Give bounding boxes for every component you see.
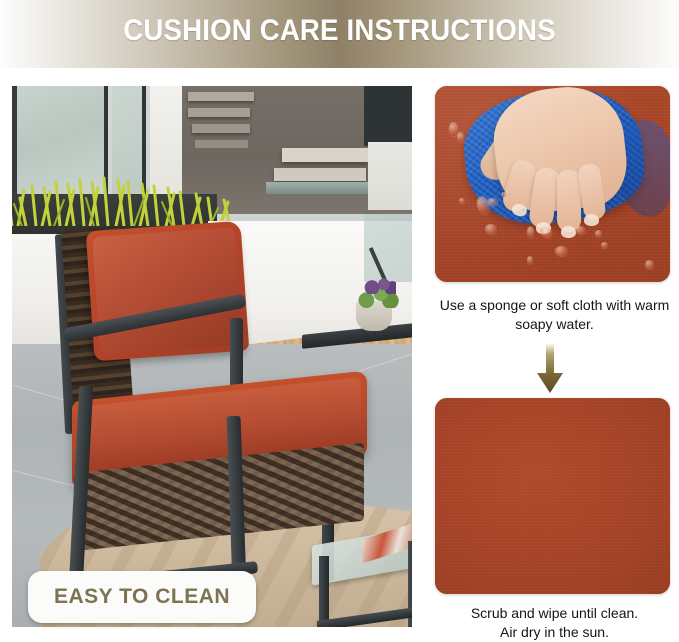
- step-two-caption-line2: Air dry in the sun.: [430, 623, 679, 642]
- easy-to-clean-label: EASY TO CLEAN: [54, 585, 230, 609]
- floating-stair-step: [195, 140, 248, 148]
- water-droplet: [595, 230, 602, 237]
- floating-stair-step: [282, 148, 368, 162]
- page-title: CUSHION CARE INSTRUCTIONS: [27, 14, 652, 48]
- patio-chair-photo: [12, 86, 412, 627]
- clean-rust-fabric-surface: [435, 398, 670, 594]
- water-droplet: [575, 226, 586, 234]
- water-droplet: [457, 132, 464, 142]
- window-frame: [364, 86, 412, 146]
- step-two-caption: Scrub and wipe until clean. Air dry in t…: [430, 604, 679, 642]
- wiping-cloth-photo: [435, 86, 670, 282]
- hand-finger: [557, 170, 581, 232]
- step-two-caption-line1: Scrub and wipe until clean.: [430, 604, 679, 623]
- water-droplet: [501, 192, 506, 197]
- side-table-leg: [319, 556, 329, 627]
- floating-stair-step: [188, 108, 250, 117]
- water-droplet: [527, 256, 533, 264]
- water-droplet: [459, 198, 465, 203]
- wall-panel: [368, 142, 412, 210]
- water-droplet: [485, 224, 497, 234]
- easy-to-clean-badge: EASY TO CLEAN: [28, 571, 256, 623]
- fingernail: [561, 226, 576, 238]
- water-droplet: [645, 260, 654, 269]
- potted-plant-flowers: [364, 278, 396, 294]
- floating-stair-step: [192, 124, 250, 133]
- step-one-caption: Use a sponge or soft cloth with warm soa…: [430, 296, 679, 334]
- arrow-down-icon: [535, 343, 565, 395]
- floating-stair-step: [188, 92, 254, 101]
- water-droplet: [555, 246, 568, 256]
- clean-fabric-photo: [435, 398, 670, 594]
- fingernail: [584, 214, 599, 226]
- water-droplet: [527, 226, 534, 238]
- ornamental-grass-plants: [12, 164, 256, 226]
- back-cushion: [86, 221, 250, 361]
- floating-stair-step: [274, 168, 366, 181]
- glass-railing: [266, 182, 376, 194]
- water-droplet: [601, 242, 608, 248]
